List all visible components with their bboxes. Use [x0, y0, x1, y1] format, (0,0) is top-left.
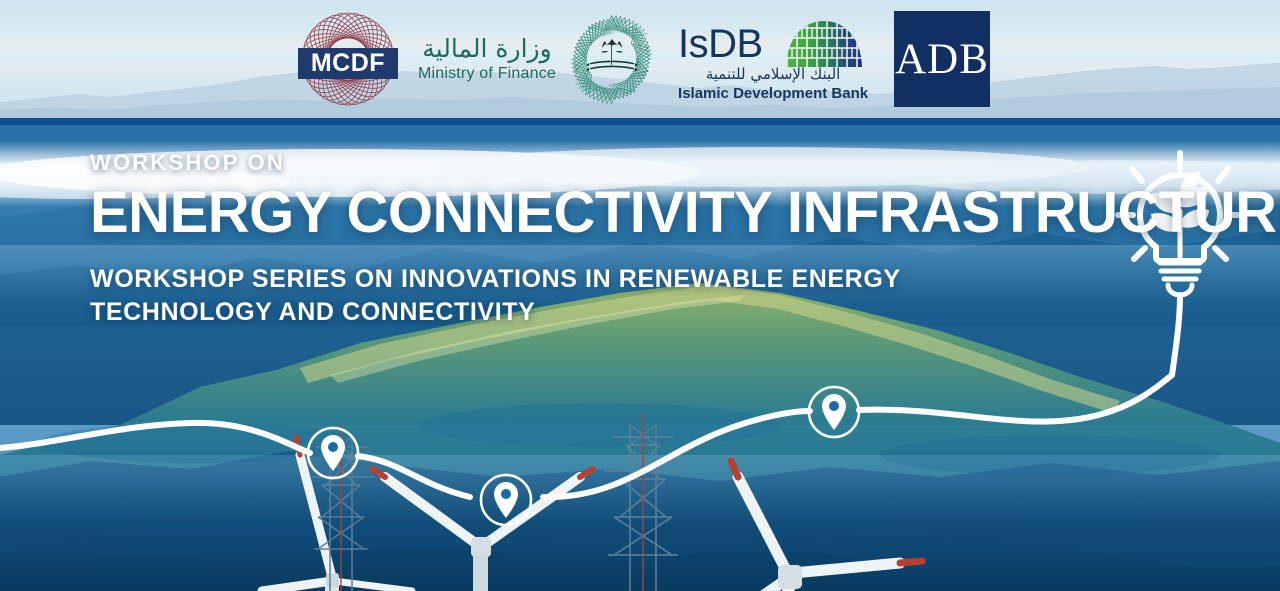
hero-photo-area: WORKSHOP ON ENERGY CONNECTIVITY INFRASTR… [0, 125, 1280, 591]
mcdf-wordmark-plate: MCDF [298, 48, 398, 79]
logo-bar-divider [0, 118, 1280, 125]
isdb-arabic-name: البنك الإسلامي للتنمية [678, 65, 868, 83]
mof-star-spirograph [560, 7, 664, 111]
page-title: ENERGY CONNECTIVITY INFRASTRUCTURE [90, 182, 1210, 243]
isdb-english-name: Islamic Development Bank [678, 85, 868, 102]
isdb-wordmark: IsDB [678, 24, 763, 64]
partner-logo-bar: MCDF وزارة المالية Ministry of Finance [0, 0, 1280, 125]
mof-arabic-name: وزارة المالية [422, 35, 551, 64]
workshop-banner: MCDF وزارة المالية Ministry of Finance [0, 0, 1280, 591]
saudi-emblem-glyph [586, 39, 638, 71]
isdb-dome-icon [783, 19, 865, 71]
subtitle-line-2: TECHNOLOGY AND CONNECTIVITY [90, 296, 1210, 329]
logo-mcdf[interactable]: MCDF [290, 7, 406, 111]
mof-text-block: وزارة المالية Ministry of Finance [418, 35, 556, 84]
hero-text-block: WORKSHOP ON ENERGY CONNECTIVITY INFRASTR… [90, 150, 1210, 329]
mof-emblem [560, 7, 664, 111]
adb-wordmark: ADB [895, 38, 989, 81]
logo-row: MCDF وزارة المالية Ministry of Finance [0, 0, 1280, 118]
logo-adb[interactable]: ADB [894, 11, 990, 107]
subtitle: WORKSHOP SERIES ON INNOVATIONS IN RENEWA… [90, 263, 1210, 329]
mof-english-name: Ministry of Finance [418, 65, 556, 83]
logo-ministry-of-finance[interactable]: وزارة المالية Ministry of Finance [418, 7, 664, 111]
logo-isdb[interactable]: IsDB [678, 7, 868, 111]
kicker-label: WORKSHOP ON [90, 150, 1210, 176]
subtitle-line-1: WORKSHOP SERIES ON INNOVATIONS IN RENEWA… [90, 265, 901, 293]
mcdf-wordmark: MCDF [311, 51, 385, 76]
